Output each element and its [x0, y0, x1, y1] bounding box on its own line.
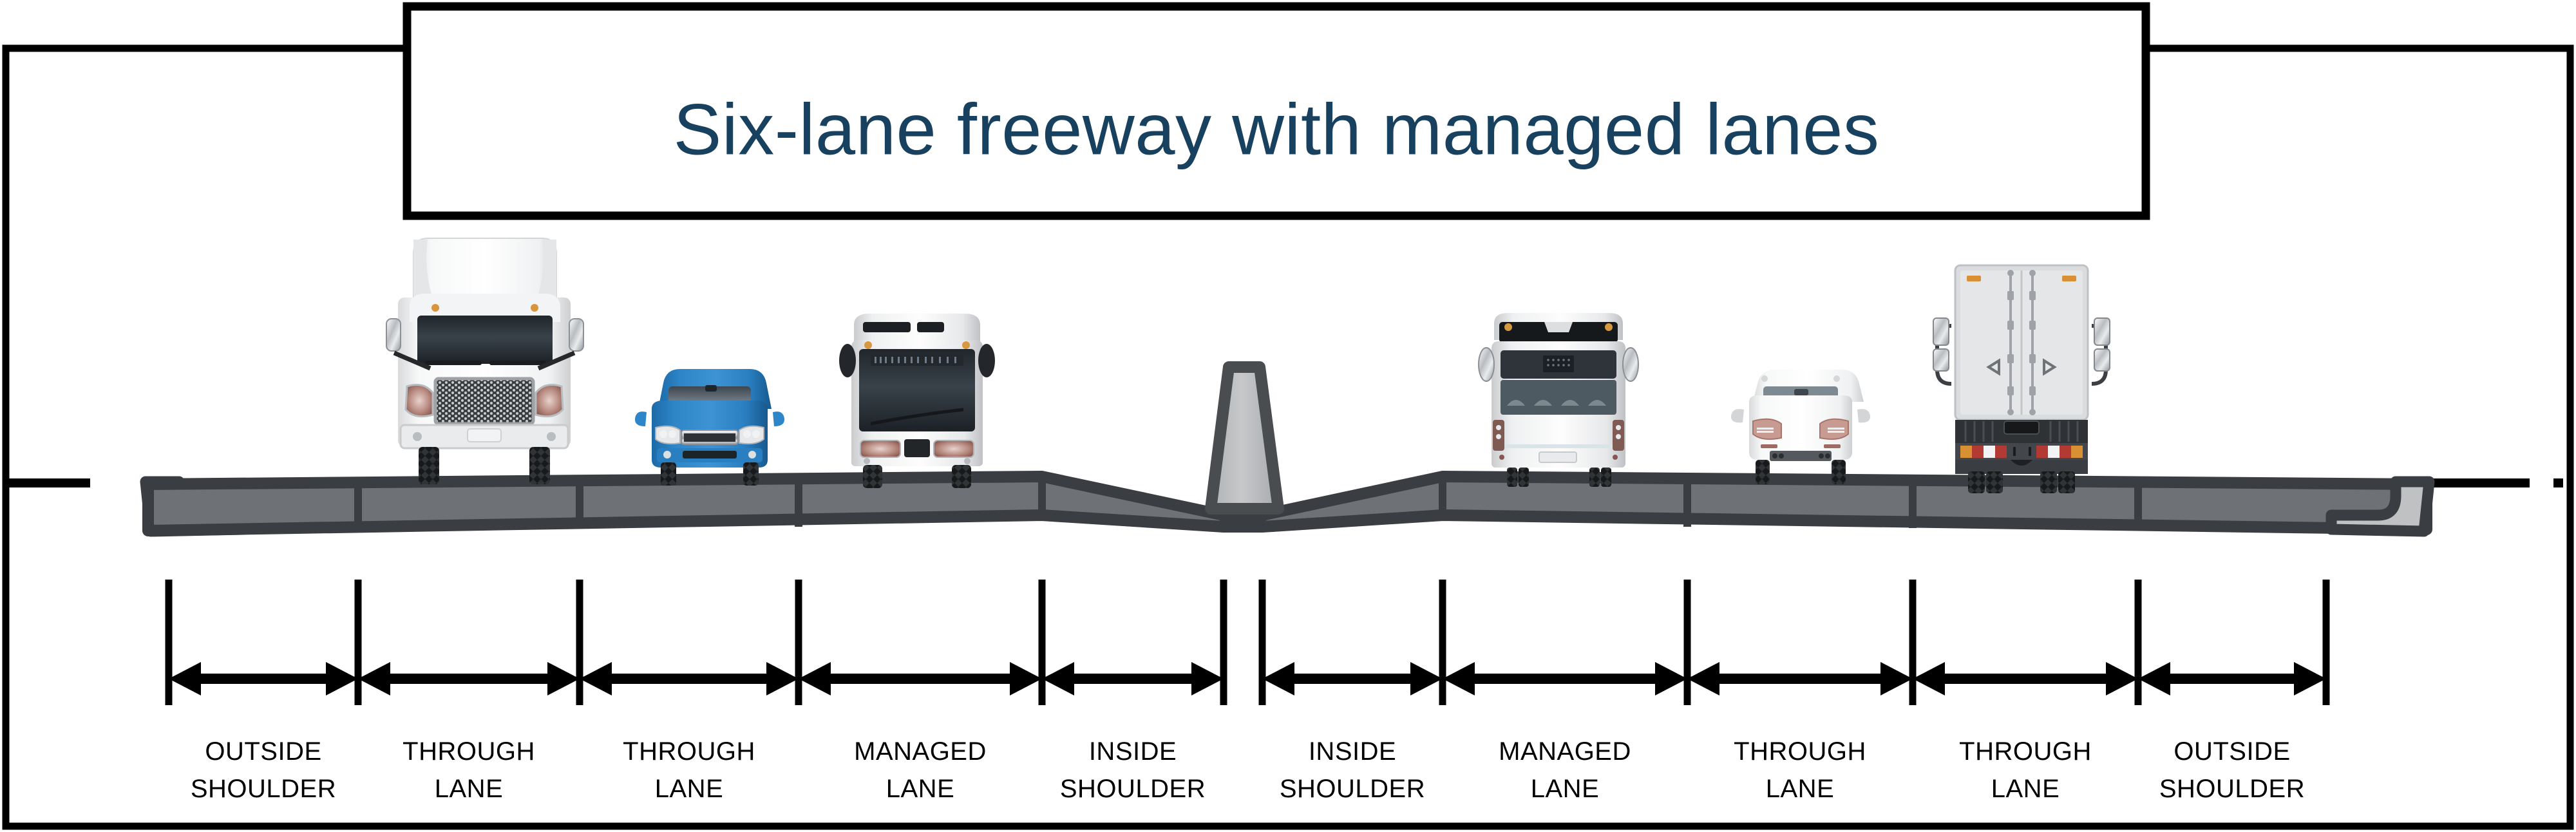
- vehicle-sedan-front: [635, 369, 784, 486]
- dimension-arrow-outside-shoulder-right: [2138, 662, 2326, 695]
- svg-text:MANAGED: MANAGED: [854, 737, 987, 766]
- label-managed-lane-left: MANAGED LANE: [854, 737, 987, 803]
- pavement-slab: [148, 477, 2427, 531]
- dimension-arrow-through-lane-left-2: [580, 662, 799, 695]
- svg-text:SHOULDER: SHOULDER: [191, 775, 336, 803]
- label-inside-shoulder-right: INSIDE SHOULDER: [1280, 737, 1425, 803]
- svg-text:THROUGH: THROUGH: [402, 737, 535, 766]
- dimension-arrow-through-lane-right-2: [1913, 662, 2138, 695]
- svg-text:SHOULDER: SHOULDER: [2159, 775, 2305, 803]
- label-outside-shoulder-left: OUTSIDE SHOULDER: [191, 737, 336, 803]
- svg-text:SHOULDER: SHOULDER: [1060, 775, 1206, 803]
- dimension-arrows: [169, 662, 2326, 695]
- svg-text:LANE: LANE: [655, 775, 724, 803]
- label-through-lane-left-1: THROUGH LANE: [402, 737, 535, 803]
- svg-text:INSIDE: INSIDE: [1309, 737, 1396, 766]
- dimension-arrow-managed-lane-right: [1443, 662, 1687, 695]
- page-title: Six-lane freeway with managed lanes: [674, 90, 1880, 170]
- svg-text:LANE: LANE: [1531, 775, 1600, 803]
- vehicle-coach-bus-rear: [1479, 313, 1638, 487]
- median-barrier: [1211, 367, 1278, 509]
- svg-text:LANE: LANE: [886, 775, 955, 803]
- svg-text:MANAGED: MANAGED: [1499, 737, 1631, 766]
- svg-text:OUTSIDE: OUTSIDE: [2173, 737, 2290, 766]
- svg-text:OUTSIDE: OUTSIDE: [205, 737, 321, 766]
- label-outside-shoulder-right: OUTSIDE SHOULDER: [2159, 737, 2305, 803]
- vehicle-suv-rear: [1731, 370, 1870, 484]
- vehicle-box-truck-rear: [1933, 265, 2110, 493]
- vehicle-coach-bus-front: [839, 314, 995, 488]
- svg-text:SHOULDER: SHOULDER: [1280, 775, 1425, 803]
- dimension-arrow-through-lane-right-1: [1687, 662, 1913, 695]
- dimension-tick-marks: [169, 580, 2326, 705]
- dimension-arrow-outside-shoulder-left: [169, 662, 358, 695]
- svg-text:LANE: LANE: [1991, 775, 2060, 803]
- dimension-arrow-inside-shoulder-right: [1262, 662, 1443, 695]
- label-through-lane-right-2: THROUGH LANE: [1959, 737, 2092, 803]
- svg-text:THROUGH: THROUGH: [1734, 737, 1866, 766]
- label-inside-shoulder-left: INSIDE SHOULDER: [1060, 737, 1206, 803]
- label-through-lane-left-2: THROUGH LANE: [623, 737, 755, 803]
- dimension-arrow-through-lane-left-1: [358, 662, 580, 695]
- svg-text:THROUGH: THROUGH: [623, 737, 755, 766]
- label-through-lane-right-1: THROUGH LANE: [1734, 737, 1866, 803]
- svg-text:INSIDE: INSIDE: [1089, 737, 1177, 766]
- svg-text:THROUGH: THROUGH: [1959, 737, 2092, 766]
- vehicle-semi-truck-front: [386, 238, 583, 484]
- dimension-arrow-managed-lane-left: [799, 662, 1042, 695]
- label-managed-lane-right: MANAGED LANE: [1499, 737, 1631, 803]
- freeway-cross-section-diagram: Six-lane freeway with managed lanes: [0, 0, 2576, 832]
- svg-text:LANE: LANE: [435, 775, 504, 803]
- dimension-labels: OUTSIDE SHOULDER THROUGH LANE THROUGH LA…: [191, 737, 2305, 803]
- svg-text:LANE: LANE: [1766, 775, 1835, 803]
- diagram-page: Six-lane freeway with managed lanes: [0, 0, 2576, 832]
- dimension-arrow-inside-shoulder-left: [1042, 662, 1224, 695]
